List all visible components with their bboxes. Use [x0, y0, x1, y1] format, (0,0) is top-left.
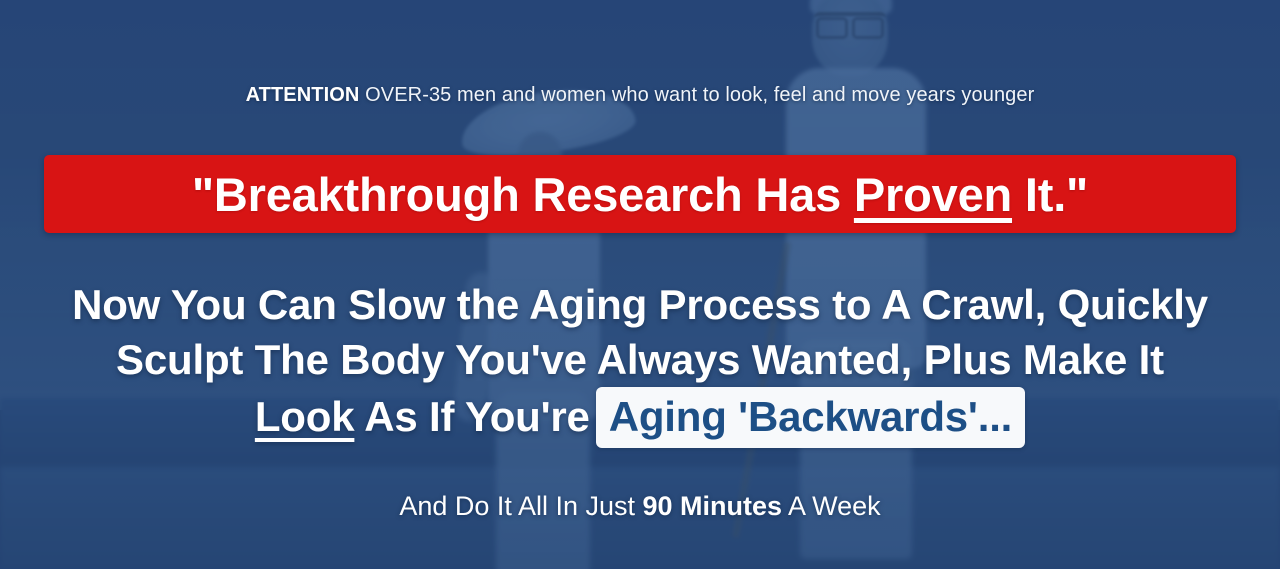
headline-line-3-middle: As If You're	[354, 393, 589, 440]
subline-before: And Do It All In Just	[399, 491, 642, 521]
headline-highlight-box: Aging 'Backwards'...	[596, 387, 1025, 448]
headline-line-1: Now You Can Slow the Aging Process to A …	[0, 277, 1280, 332]
red-headline-banner: "Breakthrough Research Has Proven It."	[44, 155, 1236, 233]
hero-content: ATTENTION OVER-35 men and women who want…	[0, 0, 1280, 569]
headline-line-2: Sculpt The Body You've Always Wanted, Pl…	[0, 332, 1280, 387]
eyebrow-rest: OVER-35 men and women who want to look, …	[359, 84, 1034, 106]
subline-emphasis: 90 Minutes	[643, 491, 783, 521]
subline-text: And Do It All In Just 90 Minutes A Week	[0, 489, 1280, 523]
eyebrow-emphasis: ATTENTION	[246, 84, 360, 106]
red-headline-text: "Breakthrough Research Has Proven It."	[192, 171, 1088, 218]
headline-line-3: Look As If You'reAging 'Backwards'...	[0, 387, 1280, 448]
red-headline-after: It."	[1012, 168, 1088, 221]
red-headline-before: "Breakthrough Research Has	[192, 168, 854, 221]
subline-after: A Week	[782, 491, 881, 521]
eyebrow-text: ATTENTION OVER-35 men and women who want…	[0, 82, 1280, 108]
headline-underlined-look: Look	[255, 393, 355, 440]
main-headline: Now You Can Slow the Aging Process to A …	[0, 277, 1280, 448]
red-headline-underlined: Proven	[854, 168, 1012, 221]
hero-banner: ATTENTION OVER-35 men and women who want…	[0, 0, 1280, 569]
